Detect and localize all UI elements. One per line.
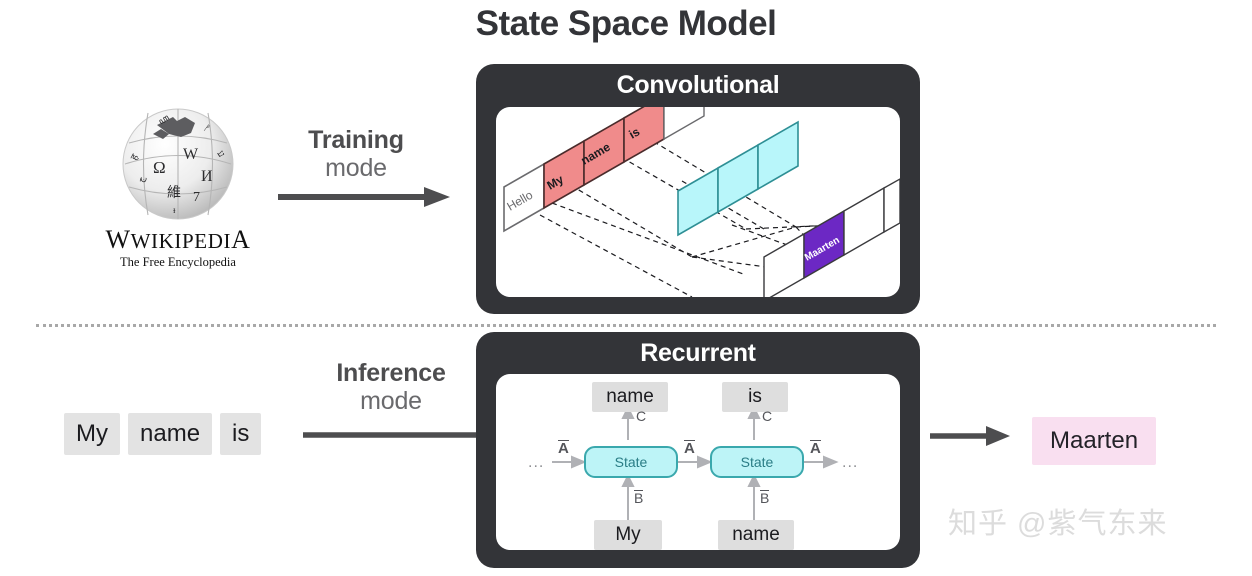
inference-mode-label: Inference mode [300, 360, 482, 415]
wikipedia-globe-icon: Ω W И 維 7 ह ج ע ꦲ ᚠ ᵻ [117, 103, 239, 225]
matrix-c-label: C [762, 408, 772, 424]
output-plane: Maarten [764, 179, 900, 297]
training-arrow-icon [278, 186, 450, 208]
recurrent-panel-title: Recurrent [476, 332, 920, 368]
left-ellipsis: ... [528, 454, 544, 472]
recurrent-panel: Recurrent [476, 332, 920, 568]
convolution-3d-diagram: Hello My name is [496, 107, 900, 297]
input-token: name [128, 413, 212, 455]
wikipedia-wordmark-body: WIKIPEDI [131, 229, 231, 253]
inference-mode-title: Inference [300, 360, 482, 387]
matrix-b-label: B [634, 490, 643, 506]
recurrent-state-cell: State [584, 446, 678, 478]
matrix-a-label: A [684, 440, 695, 457]
recurrent-output-token: name [592, 382, 668, 412]
diagram-root: State Space Model [0, 0, 1252, 576]
svg-text:И: И [201, 168, 213, 185]
training-mode-subtitle: mode [266, 154, 446, 182]
output-token: Maarten [1032, 417, 1156, 465]
svg-text:Ω: Ω [153, 158, 166, 177]
matrix-a-label: A [558, 440, 569, 457]
matrix-c-label: C [636, 408, 646, 424]
wikipedia-wordmark-last-letter: A [231, 225, 250, 254]
input-plane: Hello My name is [504, 107, 704, 231]
inference-arrow-icon [303, 425, 476, 445]
input-token: My [64, 413, 120, 455]
recurrent-input-token: name [718, 520, 794, 550]
watermark: 知乎 @紫气东来 [948, 500, 1168, 542]
convolutional-panel-title: Convolutional [476, 64, 920, 100]
svg-text:7: 7 [193, 190, 200, 205]
matrix-a-label: A [810, 440, 821, 457]
convolutional-canvas: Hello My name is [496, 107, 900, 297]
recurrent-connectors [496, 374, 900, 550]
recurrent-output-token: is [722, 382, 788, 412]
matrix-b-label: B [760, 490, 769, 506]
wikipedia-logo: Ω W И 維 7 ह ج ע ꦲ ᚠ ᵻ WWIKIPEDIA The Fre… [104, 103, 252, 263]
training-mode-title: Training [266, 127, 446, 154]
inference-mode-subtitle: mode [300, 387, 482, 415]
recurrent-input-token: My [594, 520, 662, 550]
wikipedia-wordmark: WWIKIPEDIA [104, 227, 252, 253]
right-ellipsis: ... [842, 454, 858, 472]
training-mode-label: Training mode [266, 127, 446, 182]
inference-input-tokens: My name is [64, 413, 261, 455]
page-title: State Space Model [0, 4, 1252, 44]
input-token: is [220, 413, 261, 455]
output-arrow-icon [930, 425, 1010, 447]
recurrent-canvas: name is State State My name A A A C [496, 374, 900, 550]
wikipedia-wordmark-first-letter: W [106, 225, 131, 254]
wikipedia-tagline: The Free Encyclopedia [104, 255, 252, 270]
convolutional-panel: Convolutional [476, 64, 920, 314]
section-divider [36, 324, 1216, 327]
svg-text:維: 維 [167, 185, 181, 201]
svg-text:W: W [183, 146, 199, 163]
recurrent-state-cell: State [710, 446, 804, 478]
